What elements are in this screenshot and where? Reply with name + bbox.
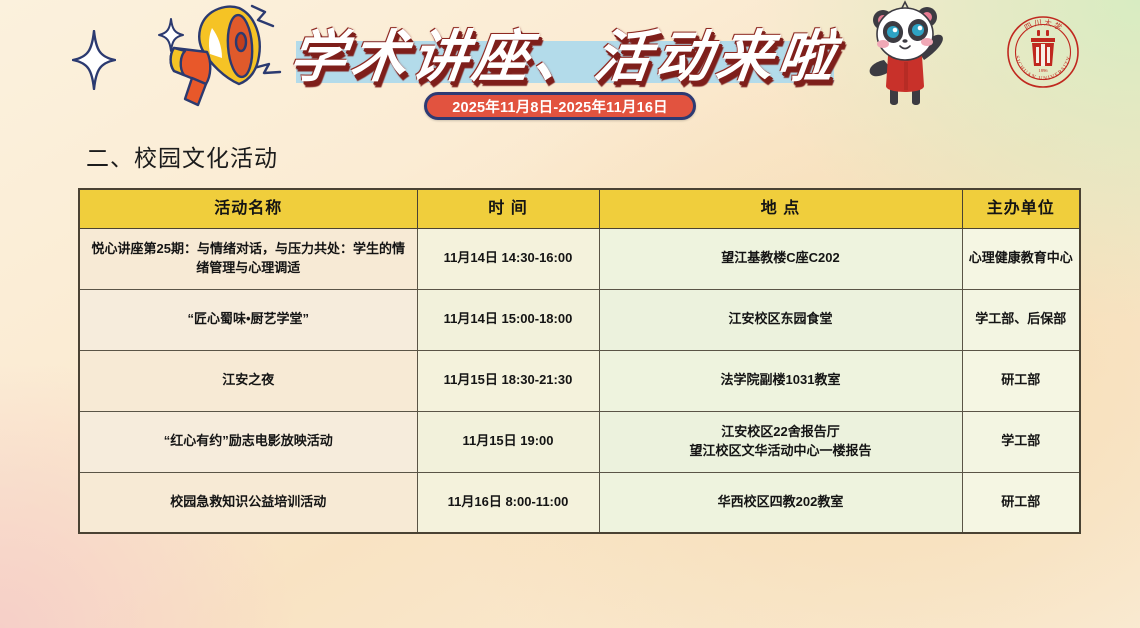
cell-location: 法学院副楼1031教室	[599, 350, 962, 411]
cell-activity-name: “匠心蜀味•厨艺学堂”	[79, 289, 417, 350]
table-row: 江安之夜 11月15日 18:30-21:30 法学院副楼1031教室 研工部	[79, 350, 1080, 411]
activities-table-wrapper: 活动名称 时 间 地 点 主办单位 悦心讲座第25期：与情绪对话，与压力共处：学…	[78, 188, 1079, 534]
location-line-1: 法学院副楼1031教室	[606, 371, 956, 390]
column-header-activity-name: 活动名称	[79, 189, 417, 228]
cell-time: 11月16日 8:00-11:00	[417, 472, 599, 533]
location-line-1: 江安校区22舍报告厅	[606, 423, 956, 442]
table-row: “红心有约”励志电影放映活动 11月15日 19:00 江安校区22舍报告厅 望…	[79, 411, 1080, 472]
table-body: 悦心讲座第25期：与情绪对话，与压力共处：学生的情绪管理与心理调适 11月14日…	[79, 228, 1080, 533]
cell-time: 11月15日 19:00	[417, 411, 599, 472]
page-title: 学术讲座、活动来啦	[285, 8, 846, 96]
cell-location: 江安校区东园食堂	[599, 289, 962, 350]
poster-title-block: 学术讲座、活动来啦	[290, 8, 840, 96]
column-header-organizer: 主办单位	[962, 189, 1080, 228]
cell-activity-name: 校园急救知识公益培训活动	[79, 472, 417, 533]
activities-table: 活动名称 时 间 地 点 主办单位 悦心讲座第25期：与情绪对话，与压力共处：学…	[78, 188, 1081, 534]
cell-organizer: 学工部	[962, 411, 1080, 472]
cell-time: 11月15日 18:30-21:30	[417, 350, 599, 411]
cell-location: 江安校区22舍报告厅 望江校区文华活动中心一楼报告	[599, 411, 962, 472]
location-line-2: 望江校区文华活动中心一楼报告	[606, 442, 956, 461]
table-row: 校园急救知识公益培训活动 11月16日 8:00-11:00 华西校区四教202…	[79, 472, 1080, 533]
column-header-location: 地 点	[599, 189, 962, 228]
section-heading: 二、校园文化活动	[86, 139, 278, 173]
cell-location: 华西校区四教202教室	[599, 472, 962, 533]
table-row: 悦心讲座第25期：与情绪对话，与压力共处：学生的情绪管理与心理调适 11月14日…	[79, 228, 1080, 289]
location-line-1: 望江基教楼C座C202	[606, 249, 956, 268]
table-header: 活动名称 时 间 地 点 主办单位	[79, 189, 1080, 228]
cell-organizer: 研工部	[962, 350, 1080, 411]
table-header-row: 活动名称 时 间 地 点 主办单位	[79, 189, 1080, 228]
cell-activity-name: 江安之夜	[79, 350, 417, 411]
cell-organizer: 学工部、后保部	[962, 289, 1080, 350]
date-range-badge: 2025年11月8日-2025年11月16日	[424, 92, 696, 120]
cell-location: 望江基教楼C座C202	[599, 228, 962, 289]
cell-time: 11月14日 15:00-18:00	[417, 289, 599, 350]
cell-organizer: 心理健康教育中心	[962, 228, 1080, 289]
column-header-time: 时 间	[417, 189, 599, 228]
cell-activity-name: 悦心讲座第25期：与情绪对话，与压力共处：学生的情绪管理与心理调适	[79, 228, 417, 289]
cell-organizer: 研工部	[962, 472, 1080, 533]
location-line-1: 华西校区四教202教室	[606, 493, 956, 512]
cell-time: 11月14日 14:30-16:00	[417, 228, 599, 289]
cell-activity-name: “红心有约”励志电影放映活动	[79, 411, 417, 472]
location-line-1: 江安校区东园食堂	[606, 310, 956, 329]
table-row: “匠心蜀味•厨艺学堂” 11月14日 15:00-18:00 江安校区东园食堂 …	[79, 289, 1080, 350]
